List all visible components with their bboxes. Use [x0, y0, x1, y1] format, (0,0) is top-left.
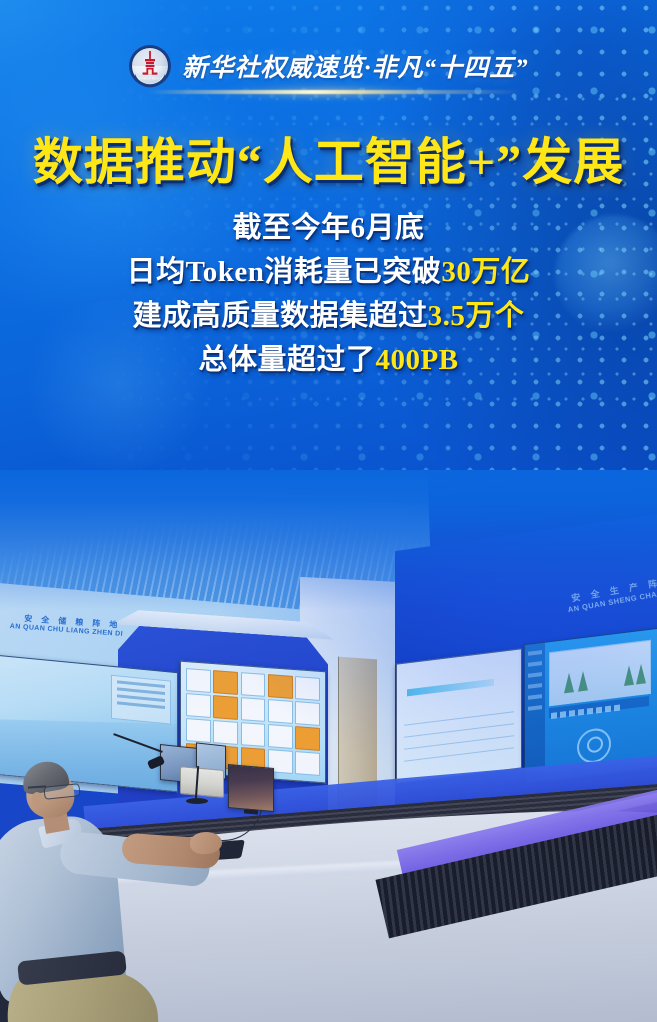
grid-tile — [268, 699, 293, 723]
brand-title: 新华社权威速览·非凡“十四五” — [182, 48, 528, 84]
grid-tile — [213, 695, 238, 719]
screen-hud-panel — [111, 675, 171, 725]
grid-tile — [213, 720, 238, 744]
screen-table-header — [407, 679, 494, 697]
stat-highlight: 400PB — [375, 344, 458, 376]
stat-highlight: 30万亿 — [441, 256, 530, 288]
stat-highlight: 3.5万个 — [428, 300, 525, 332]
grid-tile — [295, 726, 320, 750]
grid-tile — [213, 670, 238, 694]
desk-device — [180, 766, 224, 798]
stat-prefix: 建成高质量数据集超过 — [133, 300, 428, 332]
stat-line: 截至今年6月底 — [0, 206, 657, 250]
grid-tile — [295, 751, 320, 775]
grid-tile — [295, 676, 320, 700]
grid-tile — [186, 718, 211, 742]
stat-prefix: 日均Token消耗量已突破 — [127, 256, 442, 288]
grid-tile — [186, 693, 211, 717]
control-room-photograph: 安 全 储 粮 阵 地 AN QUAN CHU LIANG ZHEN DI 安 … — [0, 470, 657, 1022]
grid-tile — [241, 722, 266, 746]
stat-line: 总体量超过了400PB — [0, 338, 657, 382]
screen-camera-feed — [549, 640, 651, 707]
page-title: 数据推动“人工智能+”发展 — [0, 122, 657, 194]
screen-sidebar — [525, 643, 545, 783]
stat-prefix: 截至今年6月底 — [232, 212, 424, 244]
infographic-poster: XINHUA NEWS 新华社权威速览·非凡“十四五” 数据推动“人工智能+”发… — [0, 0, 657, 1022]
eyeglasses — [43, 783, 80, 800]
grid-tile — [268, 674, 293, 698]
stats-list: 截至今年6月底 日均Token消耗量已突破30万亿 建成高质量数据集超过3.5万… — [0, 206, 657, 382]
grid-tile — [268, 724, 293, 748]
grid-tile — [241, 672, 266, 696]
svg-text:XINHUA NEWS: XINHUA NEWS — [138, 76, 162, 80]
grid-tile — [186, 668, 211, 692]
video-wall-screen-table — [396, 648, 522, 783]
brand-header: XINHUA NEWS 新华社权威速览·非凡“十四五” — [0, 44, 657, 88]
screen-emblem-icon — [577, 727, 611, 765]
xinhua-logo-icon: XINHUA NEWS — [128, 44, 172, 88]
grid-tile — [241, 697, 266, 721]
grid-tile — [295, 701, 320, 725]
stat-line: 日均Token消耗量已突破30万亿 — [0, 250, 657, 294]
desk-monitor-primary — [228, 764, 274, 812]
gold-divider-line — [148, 90, 523, 94]
desk-microphone-base — [186, 798, 208, 804]
stat-prefix: 总体量超过了 — [198, 344, 375, 376]
stat-line: 建成高质量数据集超过3.5万个 — [0, 294, 657, 338]
